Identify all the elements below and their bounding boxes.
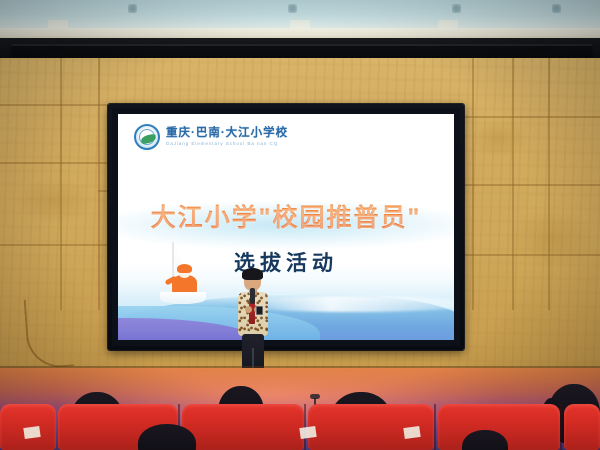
ceiling-light-icon	[128, 4, 137, 13]
school-name-english: DaJiang Elementary School Ba nan CQ	[166, 142, 288, 147]
projection-screen: 重庆·巴南·大江小学校 DaJiang Elementary School Ba…	[108, 104, 464, 350]
seat-divider	[560, 404, 562, 450]
handout-paper	[23, 426, 40, 439]
school-logo: 重庆·巴南·大江小学校 DaJiang Elementary School Ba…	[134, 124, 288, 150]
wall-stain	[506, 208, 596, 268]
school-name-chinese: 重庆·巴南·大江小学校	[166, 128, 288, 140]
ceiling-light-icon	[452, 4, 461, 13]
presenter-hair	[242, 268, 263, 280]
wall-stain	[14, 178, 94, 224]
ceiling-light-icon	[552, 4, 561, 13]
sailboat-hull	[160, 292, 206, 304]
auditorium-seat	[182, 404, 304, 450]
child-on-sailboat-illustration	[156, 242, 208, 314]
presentation-slide: 重庆·巴南·大江小学校 DaJiang Elementary School Ba…	[118, 114, 454, 340]
presenter-badge	[256, 306, 263, 315]
wall-panel-line	[98, 58, 100, 310]
school-logo-text: 重庆·巴南·大江小学校 DaJiang Elementary School Ba…	[166, 128, 288, 147]
handout-paper	[403, 426, 420, 439]
wall-seam	[464, 116, 600, 118]
wall-seam	[0, 244, 108, 246]
wall-seam	[0, 104, 108, 106]
wall-seam	[464, 184, 600, 186]
presenter-student	[232, 268, 274, 376]
wall-seam	[0, 162, 108, 164]
handout-paper	[299, 426, 316, 439]
auditorium-seat	[564, 404, 600, 450]
seat-divider	[434, 404, 436, 450]
presenter-left-hand	[245, 306, 252, 313]
auditorium-photo: 重庆·巴南·大江小学校 DaJiang Elementary School Ba…	[0, 0, 600, 450]
handheld-microphone-icon	[250, 288, 255, 304]
wall-stain	[470, 118, 530, 158]
slide-title-main: 大江小学"校园推普员"	[118, 198, 454, 234]
ceiling-light-icon	[288, 4, 297, 13]
school-crest-icon	[134, 124, 160, 150]
cartoon-child-hair	[177, 264, 192, 273]
